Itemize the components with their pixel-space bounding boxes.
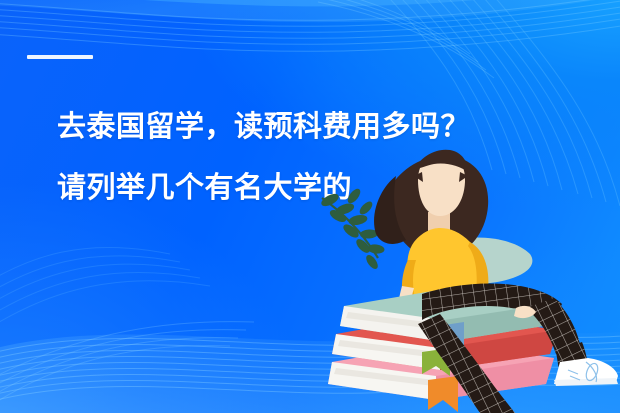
bookmark-orange: [428, 376, 458, 412]
illustration-woman-on-books: [318, 136, 620, 413]
decorative-dash: [27, 55, 93, 59]
shoe-upper-right: [554, 358, 618, 386]
promo-banner: 去泰国留学，读预科费用多吗？ 请列举几个有名大学的: [0, 0, 620, 413]
